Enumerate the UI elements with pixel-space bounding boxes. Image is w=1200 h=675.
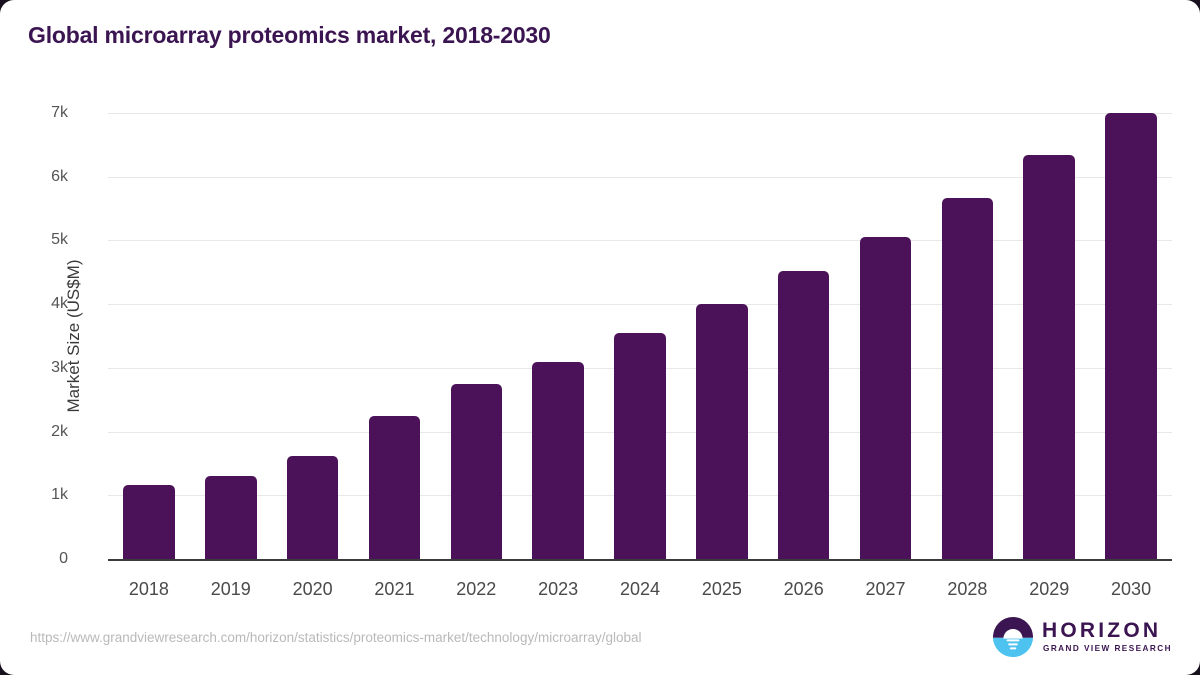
chart-canvas: Global microarray proteomics market, 201… <box>0 0 1200 675</box>
y-axis-tick-label: 2k <box>8 423 68 441</box>
bar-group[interactable] <box>1105 113 1157 559</box>
x-axis-tick-label-2021: 2021 <box>354 579 436 600</box>
bar-group[interactable] <box>860 113 912 559</box>
bar-2029[interactable] <box>1023 155 1075 559</box>
bar-2025[interactable] <box>696 304 748 559</box>
bar-group[interactable] <box>942 113 994 559</box>
bar-group[interactable] <box>696 113 748 559</box>
bar-group[interactable] <box>123 113 175 559</box>
x-axis-tick-label-2025: 2025 <box>681 579 763 600</box>
y-axis-tick-label: 1k <box>8 486 68 504</box>
y-axis-tick-label: 0 <box>8 550 68 568</box>
x-axis-tick-label-2030: 2030 <box>1090 579 1172 600</box>
x-axis-tick-label-2020: 2020 <box>272 579 354 600</box>
bar-2024[interactable] <box>614 333 666 559</box>
y-axis-tick-label: 7k <box>8 104 68 122</box>
bar-2021[interactable] <box>369 416 421 559</box>
page-title: Global microarray proteomics market, 201… <box>28 22 551 49</box>
plot-area: 01k2k3k4k5k6k7k 201820192020202120222023… <box>108 113 1172 559</box>
bar-group[interactable] <box>451 113 503 559</box>
y-axis-tick-label: 3k <box>8 359 68 377</box>
x-axis-tick-label-2019: 2019 <box>190 579 272 600</box>
brand-logo[interactable]: HORIZON GRAND VIEW RESEARCH <box>993 617 1172 657</box>
x-axis-tick-label-2022: 2022 <box>435 579 517 600</box>
bar-2030[interactable] <box>1105 113 1157 559</box>
bar-group[interactable] <box>614 113 666 559</box>
bar-group[interactable] <box>532 113 584 559</box>
bar-group[interactable] <box>287 113 339 559</box>
horizon-sun-circle-icon <box>993 617 1033 657</box>
bar-2018[interactable] <box>123 485 175 559</box>
bar-2022[interactable] <box>451 384 503 559</box>
x-axis-tick-label-2026: 2026 <box>763 579 845 600</box>
bar-group[interactable] <box>369 113 421 559</box>
source-url[interactable]: https://www.grandviewresearch.com/horizo… <box>30 630 642 645</box>
x-axis-tick-label-2029: 2029 <box>1008 579 1090 600</box>
bar-group[interactable] <box>205 113 257 559</box>
bar-group[interactable] <box>778 113 830 559</box>
y-axis-title: Market Size (US$M) <box>64 259 84 412</box>
bar-2028[interactable] <box>942 198 994 559</box>
y-axis-tick-label: 6k <box>8 168 68 186</box>
logo-text: HORIZON GRAND VIEW RESEARCH <box>1042 620 1172 653</box>
x-axis-tick-label-2028: 2028 <box>926 579 1008 600</box>
y-axis-tick-label: 5k <box>8 231 68 249</box>
logo-wordmark: HORIZON <box>1042 620 1172 641</box>
x-axis-tick-label-2027: 2027 <box>845 579 927 600</box>
bar-group[interactable] <box>1023 113 1075 559</box>
bar-2027[interactable] <box>860 237 912 559</box>
x-axis-tick-label-2024: 2024 <box>599 579 681 600</box>
x-axis-tick-label-2018: 2018 <box>108 579 190 600</box>
logo-tagline: GRAND VIEW RESEARCH <box>1043 645 1172 653</box>
bar-2019[interactable] <box>205 476 257 559</box>
x-axis-line <box>108 559 1172 561</box>
x-axis-tick-label-2023: 2023 <box>517 579 599 600</box>
bar-2023[interactable] <box>532 362 584 560</box>
y-axis-tick-label: 4k <box>8 295 68 313</box>
bar-2020[interactable] <box>287 456 339 559</box>
bar-2026[interactable] <box>778 271 830 559</box>
